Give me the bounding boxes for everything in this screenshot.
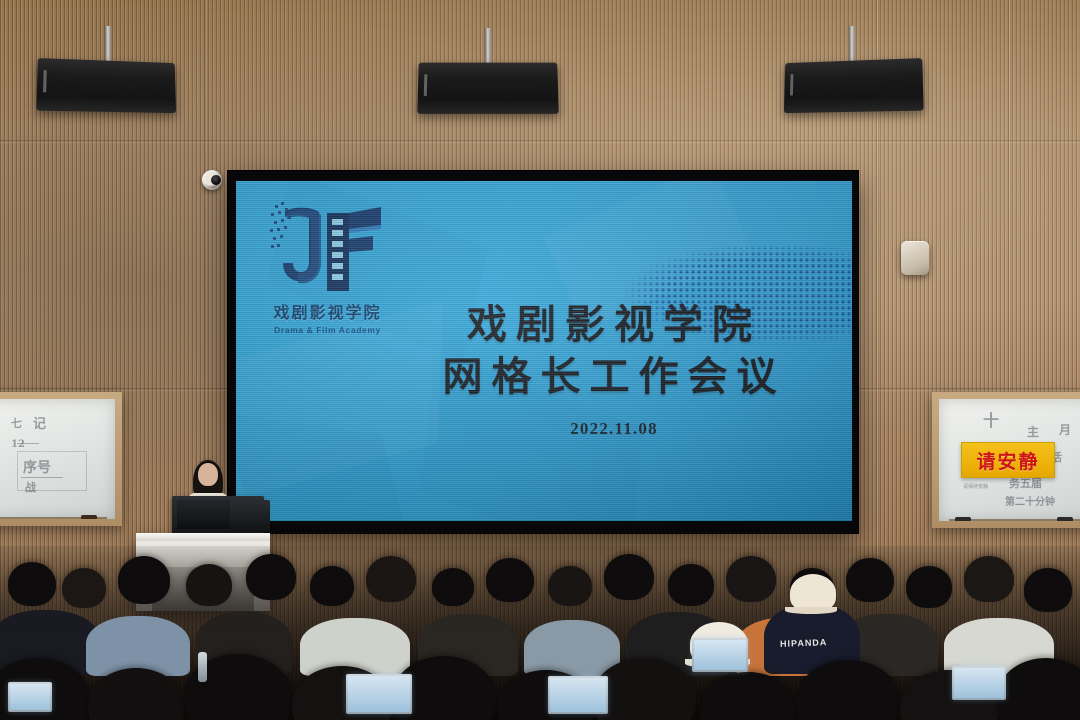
ceiling-camera-icon [202,170,222,190]
jacket-text: HIPANDA [780,637,828,649]
audience-laptop[interactable] [346,674,412,714]
presenter-head [198,463,218,486]
speaker-body [36,58,176,113]
audience-head [366,556,416,602]
audience-laptop[interactable] [692,638,748,672]
audience-head [964,556,1014,602]
whiteboard-note: 月 [1059,421,1071,438]
presenter-monitor-secondary [230,500,270,532]
audience-laptop[interactable] [8,682,52,712]
audience-head [432,568,474,606]
audience-head [1024,568,1072,612]
audience-laptop[interactable] [952,666,1006,700]
slide-date: 2022.11.08 [388,419,840,439]
whiteboard-marker [1057,517,1073,521]
water-bottle [198,652,207,682]
audience-bucket-hat [790,574,836,612]
audience-head [604,554,654,600]
whiteboard-note: 十 [983,407,999,431]
audience-shoulders [86,616,190,676]
logo-chinese-name: 戏剧影视学院 [260,299,395,323]
presentation-slide: 戏剧影视学院 Drama & Film Academy 戏剧影视学院 网格长工作… [236,181,852,521]
audience-head [118,556,170,604]
audience-head [310,566,354,606]
whiteboard-marker [955,517,971,521]
whiteboard-note: 主 [1027,423,1039,440]
wall-panel [901,241,929,275]
film-strip-jf-icon [269,199,387,295]
whiteboard-right-surface: 十 主 月 注 活 务五届 第二十分钟 请安静 请保持安静 [939,399,1080,521]
quiet-sign: 请安静 [961,442,1055,478]
quiet-sign-caption: 请保持安静 [963,483,988,490]
speaker-body [417,63,559,114]
audience-head [186,564,232,606]
audience: HIPANDA [0,546,1080,720]
audience-head [62,568,106,608]
slide-title-block: 戏剧影视学院 网格长工作会议 2022.11.08 [388,299,840,439]
whiteboard-left-surface: 记 七 12 序号 战 [0,399,115,519]
audience-laptop[interactable] [548,676,608,714]
ceiling-speaker [418,62,558,114]
ceiling-speaker [38,60,178,112]
whiteboard-note: 七 [11,415,22,431]
audience-head [726,556,776,602]
audience-head [700,672,796,720]
audience-head [246,554,296,600]
whiteboard-right: 十 主 月 注 活 务五届 第二十分钟 请安静 请保持安静 [932,392,1080,528]
whiteboard-left: 记 七 12 序号 战 [0,392,122,526]
whiteboard-marker [81,515,97,519]
speaker-body [784,58,924,113]
led-display-screen: 戏剧影视学院 Drama & Film Academy 戏剧影视学院 网格长工作… [228,171,858,533]
audience-head [548,566,592,606]
logo-english-name: Drama & Film Academy [260,325,395,335]
whiteboard-note: 12 [11,439,25,450]
audience-head [486,558,534,602]
lecture-hall-photo: 戏剧影视学院 Drama & Film Academy 戏剧影视学院 网格长工作… [0,0,1080,720]
audience-head [846,558,894,602]
academy-logo: 戏剧影视学院 Drama & Film Academy [260,199,395,335]
audience-head [668,564,714,606]
quiet-sign-text: 请安静 [976,447,1039,474]
slide-title-line-2: 网格长工作会议 [388,351,840,403]
whiteboard-note: 记 [33,413,46,432]
whiteboard-note: 战 [25,479,36,495]
audience-shoulders [524,620,620,676]
audience-head [8,562,56,606]
slide-title-line-1: 戏剧影视学院 [388,299,840,351]
academy-logo-mark [269,199,387,295]
whiteboard-note: 序号 [23,457,51,477]
whiteboard-note: 第二十分钟 [1005,493,1055,508]
audience-head [906,566,952,608]
ceiling-speaker [782,60,922,112]
